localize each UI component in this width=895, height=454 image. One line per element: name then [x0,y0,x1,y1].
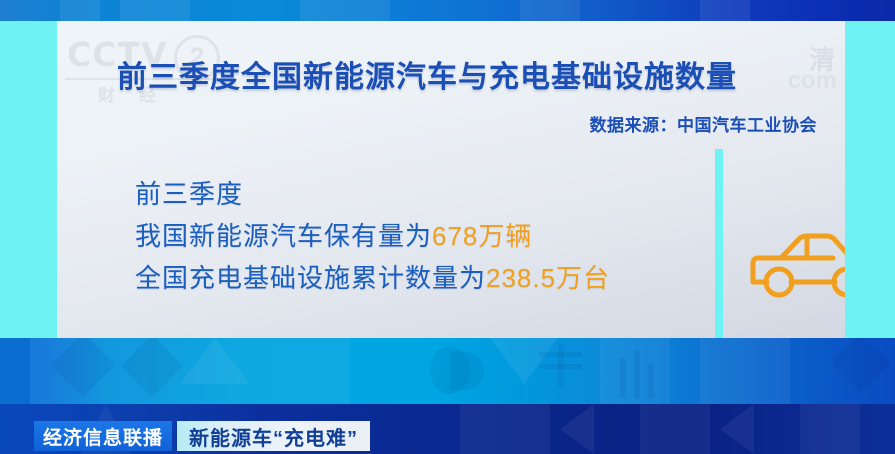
car-icon [747,229,845,301]
stat-line-chargers: 全国充电基础设施累计数量为238.5万台 [135,257,610,299]
mid-blue-band [0,338,895,404]
stat-line-vehicles: 我国新能源汽车保有量为678万辆 [135,215,610,257]
stat-chargers-label: 全国充电基础设施累计数量为 [135,263,486,293]
statistics-text-block: 前三季度 我国新能源汽车保有量为678万辆 全国充电基础设施累计数量为238.5… [135,173,610,299]
broadcast-graphic-screen: CCTV 2 财经 清 com 前三季度全国新能源汽车与充电基础设施数量 数据来… [0,0,895,454]
vertical-cyan-divider [715,149,723,338]
content-panel: CCTV 2 财经 清 com 前三季度全国新能源汽车与充电基础设施数量 数据来… [57,21,845,338]
right-cyan-column [845,21,895,338]
car-icon-svg [747,229,845,301]
topic-headline[interactable]: 新能源车“充电难” [177,421,370,451]
stat-vehicles-label: 我国新能源汽车保有量为 [135,221,432,251]
data-source-label: 数据来源：中国汽车工业协会 [57,111,817,136]
lower-third: 经济信息联播 新能源车“充电难” [34,421,370,451]
stat-chargers-value: 238.5万台 [486,263,610,293]
stat-vehicles-value: 678万辆 [432,221,532,251]
page-title: 前三季度全国新能源汽车与充电基础设施数量 [117,61,817,94]
stat-line-period: 前三季度 [135,173,610,215]
top-blue-strip [0,0,895,21]
program-name-badge[interactable]: 经济信息联播 [34,421,172,451]
left-cyan-column [0,21,57,338]
